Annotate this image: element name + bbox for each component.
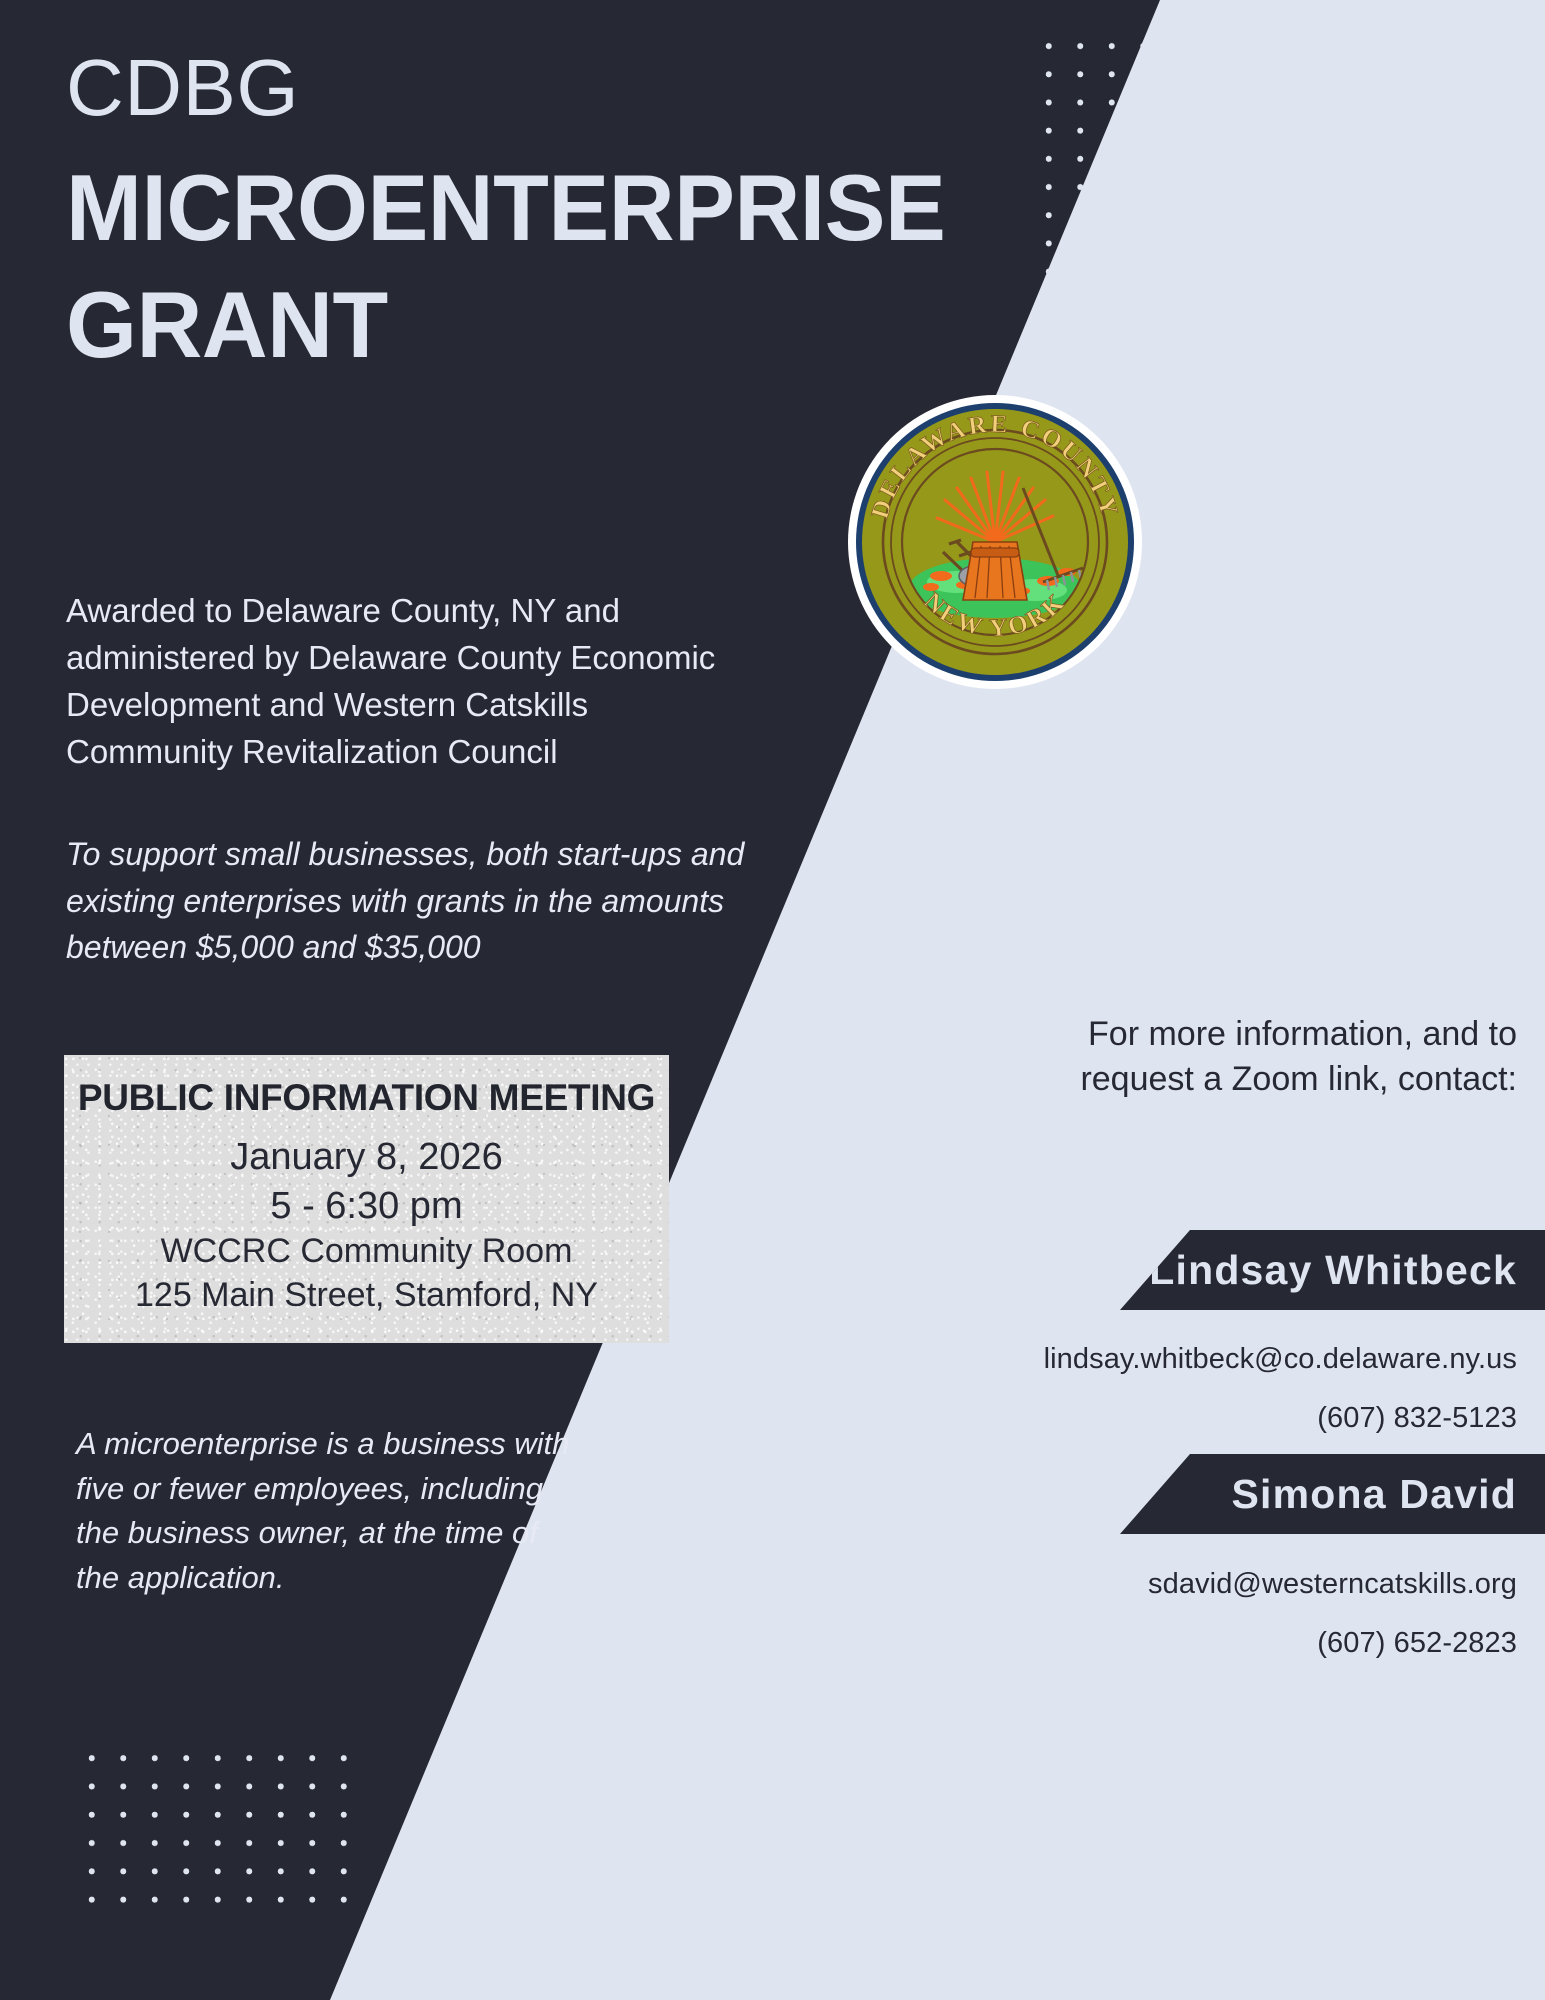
contact-name-simona: Simona David bbox=[1231, 1471, 1517, 1518]
page-title-line-2: GRANT bbox=[66, 267, 939, 384]
meeting-address: 125 Main Street, Stamford, NY bbox=[74, 1274, 659, 1318]
program-kicker: CDBG bbox=[66, 44, 966, 132]
contact-phone-lindsay[interactable]: (607) 832-5123 bbox=[957, 1402, 1517, 1435]
microenterprise-definition: A microenterprise is a business with fiv… bbox=[76, 1422, 586, 1601]
delaware-county-seal-icon: DELAWARE COUNTY NEW YORK bbox=[845, 392, 1145, 692]
page-title-line-1: MICROENTERPRISE bbox=[66, 150, 939, 267]
contact-name-banner-lindsay: Lindsay Whitbeck bbox=[1120, 1230, 1545, 1310]
meeting-heading: PUBLIC INFORMATION MEETING bbox=[74, 1077, 659, 1119]
poster-canvas: CDBG MICROENTERPRISE GRANT bbox=[0, 0, 1545, 2000]
contact-phone-simona[interactable]: (607) 652-2823 bbox=[957, 1627, 1517, 1660]
award-description: Awarded to Delaware County, NY and admin… bbox=[66, 588, 756, 775]
contact-name-banner-simona: Simona David bbox=[1120, 1454, 1545, 1534]
intro-block: Awarded to Delaware County, NY and admin… bbox=[66, 588, 756, 971]
footer-logo-row: W C C R C A S S I S T A N C E Business bbox=[0, 1838, 1545, 2000]
contact-intro-block: For more information, and to request a Z… bbox=[1047, 1012, 1517, 1102]
public-meeting-info-box: PUBLIC INFORMATION MEETING January 8, 20… bbox=[64, 1055, 669, 1343]
definition-block: A microenterprise is a business with fiv… bbox=[76, 1422, 586, 1601]
contact-email-lindsay[interactable]: lindsay.whitbeck@co.delaware.ny.us bbox=[957, 1343, 1517, 1376]
grant-purpose: To support small businesses, both start-… bbox=[66, 831, 756, 970]
contact-name-lindsay: Lindsay Whitbeck bbox=[1149, 1247, 1517, 1294]
meeting-venue: WCCRC Community Room bbox=[74, 1230, 659, 1274]
contact-email-simona[interactable]: sdavid@westerncatskills.org bbox=[957, 1568, 1517, 1601]
meeting-time: 5 - 6:30 pm bbox=[74, 1182, 659, 1231]
contact-intro-text: For more information, and to request a Z… bbox=[1047, 1012, 1517, 1102]
contact-details-simona: sdavid@westerncatskills.org (607) 652-28… bbox=[957, 1568, 1517, 1660]
contact-details-lindsay: lindsay.whitbeck@co.delaware.ny.us (607)… bbox=[957, 1343, 1517, 1435]
meeting-date: January 8, 2026 bbox=[74, 1133, 659, 1182]
dot-grid-top-right-decoration bbox=[1030, 28, 1188, 318]
headline-block: CDBG MICROENTERPRISE GRANT bbox=[66, 44, 966, 383]
